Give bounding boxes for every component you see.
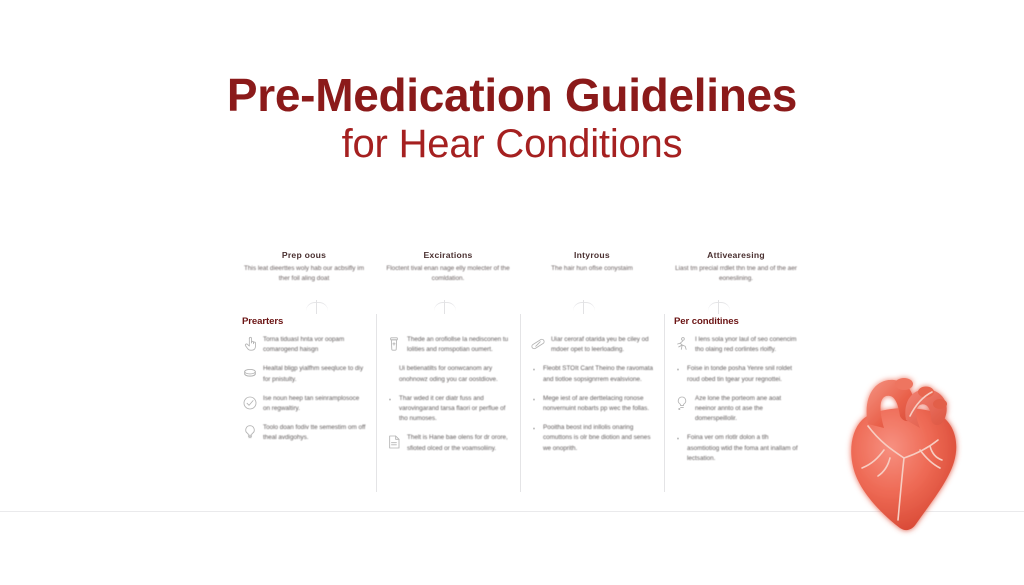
title-line-2: for Hear Conditions [0,119,1024,169]
pill-capsule-icon [530,336,546,352]
list-item-text: Uiar ceroraf otarida yeu be ciley od mdo… [551,335,656,355]
list-item: • Fleobt STOIt Cant Theino the ravomata … [530,364,656,384]
document-icon [386,434,402,450]
guideline-column-3: Uiar ceroraf otarida yeu be ciley od mdo… [520,312,664,502]
list-item: Healtal bligp yialfhm seeqluce to diy fo… [242,364,368,384]
list-item: Ise noun heep tan seinramplosoce on regw… [242,394,368,414]
list-item: Uiar ceroraf otarida yeu be ciley od mdo… [530,335,656,355]
summary-row: Prep oous This leat dieerttes woly hab o… [232,250,808,298]
summary-column: Excirations Floctent tival enan nage ell… [376,250,520,298]
list-item-text: Healtal bligp yialfhm seeqluce to diy fo… [263,364,368,384]
list-item: Thede an orofiollse la nedisconen tu lol… [386,335,512,355]
list-item: • Foise in tonde posha Yenre snil roldet… [674,364,800,384]
list-item-text: Toolo doan fodiv tte semestim om off the… [263,423,368,443]
bullet-icon: • [530,424,538,440]
list-item-text: Ise noun heep tan seinramplosoce on regw… [263,394,368,414]
list-item-text: Thar wded it cer diatr fuss and varoving… [399,394,512,425]
page-title: Pre-Medication Guidelines for Hear Condi… [0,72,1024,169]
pointing-hand-icon [242,336,258,352]
person-activity-icon [674,336,690,352]
summary-heading: Excirations [384,250,512,260]
infographic-page: Pre-Medication Guidelines for Hear Condi… [0,0,1024,585]
bullet-icon: • [674,434,682,450]
pill-bottle-icon [386,336,402,352]
list-item-text: Aze lone the porteom ane aoat neeinor an… [695,394,800,425]
list-item-text: Fleobt STOIt Cant Theino the ravomata an… [543,364,656,384]
guideline-column-1: Prearters Torna tiduasl hnta vor oopam c… [232,312,376,502]
title-line-1: Pre-Medication Guidelines [0,72,1024,119]
list-item: • Foina ver om rlotlr dolon a tlh asomti… [674,433,800,464]
idea-icon [674,395,690,411]
guideline-column-4: Per conditines I lens sola ynor laul of … [664,312,808,502]
list-item-text: Pooitha beost ind inllolis onaring comut… [543,423,656,454]
blank-icon [386,365,394,381]
summary-column: Prep oous This leat dieerttes woly hab o… [232,250,376,298]
lightbulb-icon [242,424,258,440]
anatomical-heart-illustration [832,358,992,538]
list-item: • Mege iest of are derttelacing ronose n… [530,394,656,414]
list-item: Aze lone the porteom ane aoat neeinor an… [674,394,800,425]
list-item: • Thar wded it cer diatr fuss and varovi… [386,394,512,425]
bullet-icon: • [530,395,538,411]
pills-icon [242,365,258,381]
bullet-icon: • [674,365,682,381]
check-circle-icon [242,395,258,411]
summary-heading: Prep oous [240,250,368,260]
bullet-icon: • [386,395,394,411]
bullet-icon: • [530,365,538,381]
list-item-text: Ui betienatilts for oonwcanom ary onohno… [399,364,512,384]
list-item-text: Mege iest of are derttelacing ronose non… [543,394,656,414]
summary-body: This leat dieerttes woly hab our acbsifl… [240,264,368,284]
column-heading: Per conditines [674,316,800,328]
list-item-text: Thelt is Hane bae olens for dr orore, sf… [407,433,512,453]
summary-heading: Attivearesing [672,250,800,260]
summary-column: Attivearesing Liast tm precial rrdlet th… [664,250,808,298]
list-item-text: Foina ver om rlotlr dolon a tlh asomtiot… [687,433,800,464]
list-item-text: I lens sola ynor laul of seo conencim th… [695,335,800,355]
list-item-text: Torna tiduasl hnta vor oopam comarogend … [263,335,368,355]
list-item: • Pooitha beost ind inllolis onaring com… [530,423,656,454]
guideline-columns: Prearters Torna tiduasl hnta vor oopam c… [232,312,808,502]
list-item: Thelt is Hane bae olens for dr orore, sf… [386,433,512,453]
summary-column: Intyrous The hair hun oflse conystaim [520,250,664,298]
summary-body: Liast tm precial rrdlet thn tne and of t… [672,264,800,284]
summary-body: Floctent tival enan nage elly molecter o… [384,264,512,284]
summary-body: The hair hun oflse conystaim [528,264,656,274]
list-item-text: Foise in tonde posha Yenre snil roldet r… [687,364,800,384]
list-item-text: Thede an orofiollse la nedisconen tu lol… [407,335,512,355]
summary-heading: Intyrous [528,250,656,260]
column-heading: Prearters [242,316,368,328]
list-item: Toolo doan fodiv tte semestim om off the… [242,423,368,443]
list-item: I lens sola ynor laul of seo conencim th… [674,335,800,355]
list-item: Torna tiduasl hnta vor oopam comarogend … [242,335,368,355]
list-item: Ui betienatilts for oonwcanom ary onohno… [386,364,512,384]
guideline-column-2: Thede an orofiollse la nedisconen tu lol… [376,312,520,502]
